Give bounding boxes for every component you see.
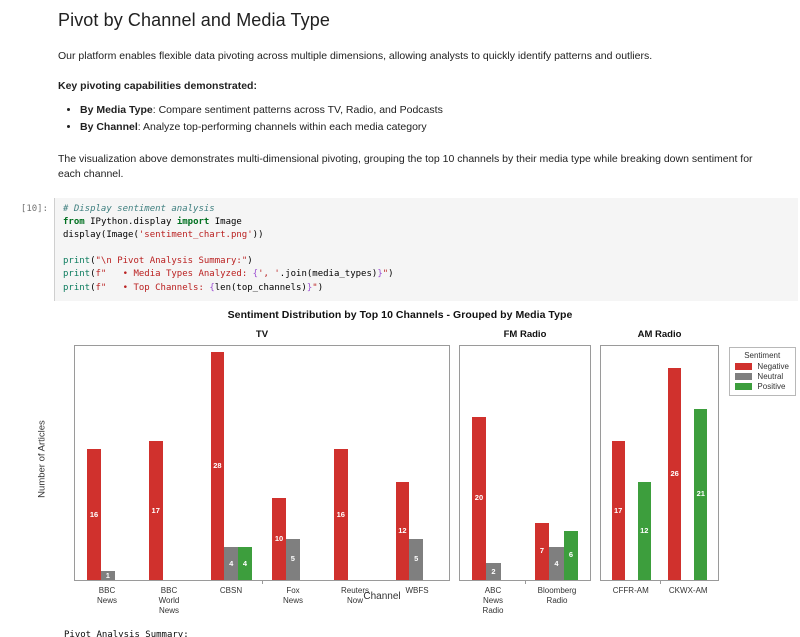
chart-panel-am-radio: AM Radio17122621CFFR-AMCKWX-AM xyxy=(600,345,719,581)
bar-neg: 12 xyxy=(396,482,410,580)
code-token: print xyxy=(63,256,90,266)
legend-swatch-positive xyxy=(735,383,752,390)
bar-neg: 16 xyxy=(87,449,101,579)
x-tick-label: ReutersNow xyxy=(324,581,386,616)
legend-row: Neutral xyxy=(735,372,789,381)
bar-value-label: 5 xyxy=(414,555,418,563)
code-cell: [10]: # Display sentiment analysis from … xyxy=(0,198,800,300)
panel-title: TV xyxy=(74,329,450,340)
x-tick-label: BBCNews xyxy=(76,581,138,616)
bar-container: 17122621 xyxy=(601,346,718,580)
legend-entries: NegativeNeutralPositive xyxy=(735,362,789,391)
bar-value-label: 1 xyxy=(106,572,110,580)
x-tick-mark xyxy=(660,581,661,584)
plot-area: 16117284410516125 xyxy=(74,345,450,581)
intro-paragraph: Our platform enables flexible data pivot… xyxy=(58,49,760,64)
x-tick-label: ABCNewsRadio xyxy=(461,581,525,616)
code-editor[interactable]: # Display sentiment analysis from IPytho… xyxy=(54,198,798,300)
bar-pos: 4 xyxy=(238,547,252,580)
bar-neg: 20 xyxy=(472,417,487,580)
bar-group: 17 xyxy=(139,346,201,580)
bar-neu: 4 xyxy=(224,547,238,580)
x-axis-ticks: BBCNewsBBCWorldNewsCBSNFoxNewsReutersNow… xyxy=(74,581,450,616)
capabilities-subheading: Key pivoting capabilities demonstrated: xyxy=(58,80,760,92)
bar-neu: 1 xyxy=(101,571,115,579)
bar-container: 202746 xyxy=(460,346,590,580)
bar-group: 125 xyxy=(385,346,447,580)
bar-value-label: 4 xyxy=(229,560,233,568)
capabilities-list: By Media Type: Compare sentiment pattern… xyxy=(58,102,760,136)
bar-value-label: 16 xyxy=(90,511,98,519)
code-token: 'sentiment_chart.png' xyxy=(139,230,253,240)
bar-value-label: 7 xyxy=(540,547,544,555)
list-item-text: : Analyze top-performing channels within… xyxy=(138,121,427,133)
plot-area: 17122621 xyxy=(600,345,719,581)
code-token: .join(media_types) xyxy=(280,269,378,279)
bar-value-label: 4 xyxy=(554,560,558,568)
code-token: display(Image( xyxy=(63,230,139,240)
x-tick-label: CKWX-AM xyxy=(660,581,718,596)
legend-row: Negative xyxy=(735,362,789,371)
y-axis-label: Number of Articles xyxy=(37,420,48,498)
x-tick-mark xyxy=(525,581,526,584)
bar-pos: 6 xyxy=(564,531,579,580)
legend-title: Sentiment xyxy=(735,351,789,360)
bar-pos: 12 xyxy=(638,482,651,580)
bar-group: 161 xyxy=(77,346,139,580)
list-item-label: By Channel xyxy=(80,121,138,133)
x-axis-ticks: ABCNewsRadioBloombergRadio xyxy=(459,581,591,616)
bar-neu: 2 xyxy=(486,563,501,579)
bar-neg: 26 xyxy=(668,368,681,580)
code-token: )) xyxy=(253,230,264,240)
code-token: f" • Top Channels: xyxy=(96,283,210,293)
list-item: By Media Type: Compare sentiment pattern… xyxy=(80,102,760,119)
bar-value-label: 17 xyxy=(614,507,622,515)
bar-neg: 17 xyxy=(612,441,625,579)
code-token: ) xyxy=(318,283,323,293)
bar-value-label: 28 xyxy=(213,462,221,470)
x-tick-label: BloombergRadio xyxy=(525,581,589,616)
bar-neg: 17 xyxy=(149,441,163,579)
bar-value-label: 6 xyxy=(569,551,573,559)
bar-value-label: 12 xyxy=(398,527,406,535)
bar-group: 746 xyxy=(525,346,588,580)
bar-value-label: 20 xyxy=(475,494,483,502)
bar-group: 202 xyxy=(462,346,525,580)
code-token: # Display sentiment analysis xyxy=(63,204,215,214)
code-token: ) xyxy=(247,256,252,266)
code-token: import xyxy=(177,217,210,227)
bar-value-label: 4 xyxy=(243,560,247,568)
bar-value-label: 5 xyxy=(291,555,295,563)
bar-container: 16117284410516125 xyxy=(75,346,449,580)
x-tick-label: CFFR-AM xyxy=(602,581,660,596)
list-item-text: : Compare sentiment patterns across TV, … xyxy=(153,104,443,116)
bar-pos: 21 xyxy=(694,409,707,580)
bar-neu: 5 xyxy=(409,539,423,580)
bar-group: 2621 xyxy=(660,346,717,580)
bar-neg: 7 xyxy=(535,523,550,580)
legend-swatch-neutral xyxy=(735,373,752,380)
list-item: By Channel: Analyze top-performing chann… xyxy=(80,119,760,136)
chart-title: Sentiment Distribution by Top 10 Channel… xyxy=(0,309,800,321)
code-token: len(top_channels) xyxy=(215,283,307,293)
code-token: "\n Pivot Analysis Summary:" xyxy=(96,256,248,266)
execution-count: [10]: xyxy=(0,198,54,214)
chart-panel-fm-radio: FM Radio202746ABCNewsRadioBloombergRadio xyxy=(459,345,591,581)
code-token: ) xyxy=(388,269,393,279)
bar-value-label: 26 xyxy=(670,470,678,478)
bar-value-label: 21 xyxy=(697,490,705,498)
x-tick-mark xyxy=(262,581,263,584)
bar-value-label: 2 xyxy=(491,568,495,576)
legend-row: Positive xyxy=(735,382,789,391)
code-token: print xyxy=(63,283,90,293)
cell-output-text: Pivot Analysis Summary: • Media Types An… xyxy=(0,629,800,637)
bar-value-label: 10 xyxy=(275,535,283,543)
bar-neg: 10 xyxy=(272,498,286,579)
bar-value-label: 12 xyxy=(640,527,648,535)
markdown-cell: Pivot by Channel and Media Type Our plat… xyxy=(0,0,800,182)
code-token xyxy=(63,243,68,253)
code-token: from xyxy=(63,217,85,227)
bar-neg: 16 xyxy=(334,449,348,579)
code-token: print xyxy=(63,269,90,279)
bar-neu: 4 xyxy=(549,547,564,580)
chart-legend: Sentiment NegativeNeutralPositive xyxy=(729,347,796,396)
page-title: Pivot by Channel and Media Type xyxy=(58,10,760,31)
bar-group: 105 xyxy=(262,346,324,580)
code-token: ', ' xyxy=(258,269,280,279)
legend-label: Neutral xyxy=(757,372,783,381)
bar-group: 2844 xyxy=(200,346,262,580)
panel-title: AM Radio xyxy=(600,329,719,340)
x-tick-label: CBSN xyxy=(200,581,262,616)
x-tick-label: FoxNews xyxy=(262,581,324,616)
legend-label: Positive xyxy=(757,382,785,391)
bar-value-label: 17 xyxy=(152,507,160,515)
code-token: f" • Media Types Analyzed: xyxy=(96,269,253,279)
bar-neg: 28 xyxy=(211,352,225,580)
x-tick-label: WBFS xyxy=(386,581,448,616)
plot-area: 202746 xyxy=(459,345,591,581)
legend-label: Negative xyxy=(757,362,789,371)
bar-value-label: 16 xyxy=(337,511,345,519)
bar-group: 1712 xyxy=(603,346,660,580)
closing-paragraph: The visualization above demonstrates mul… xyxy=(58,152,760,182)
code-token: IPython.display xyxy=(85,217,177,227)
bar-group: 16 xyxy=(324,346,386,580)
x-axis-ticks: CFFR-AMCKWX-AM xyxy=(600,581,719,596)
sentiment-chart-figure: Sentiment Distribution by Top 10 Channel… xyxy=(0,307,800,625)
code-token: Image xyxy=(209,217,242,227)
chart-panel-tv: TV16117284410516125BBCNewsBBCWorldNewsCB… xyxy=(74,345,450,581)
list-item-label: By Media Type xyxy=(80,104,153,116)
panel-title: FM Radio xyxy=(459,329,591,340)
x-tick-label: BBCWorldNews xyxy=(138,581,200,616)
legend-swatch-negative xyxy=(735,363,752,370)
bar-neu: 5 xyxy=(286,539,300,580)
